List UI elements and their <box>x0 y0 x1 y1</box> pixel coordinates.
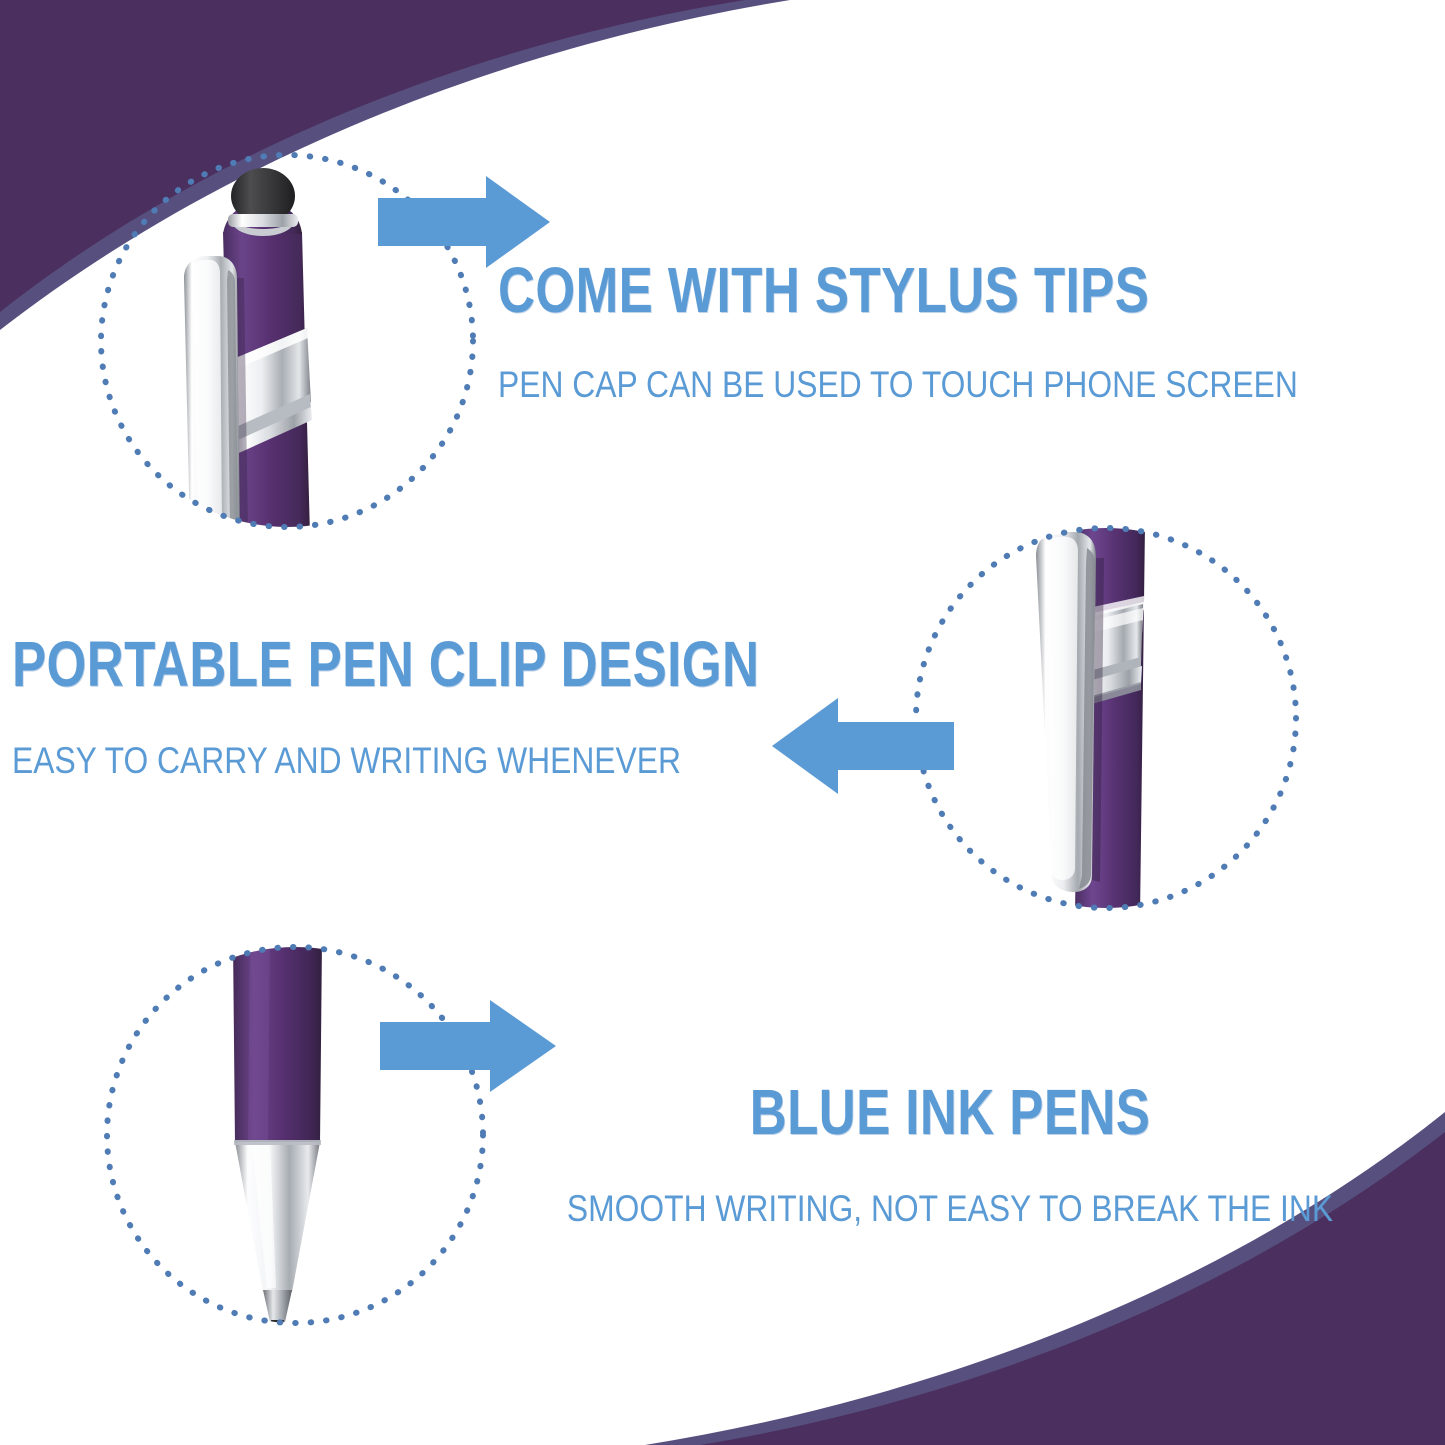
subline-stylus-tips: PEN CAP CAN BE USED TO TOUCH PHONE SCREE… <box>498 366 1272 403</box>
feature-text-pen-clip: PORTABLE PEN CLIP DESIGN EASY TO CARRY A… <box>12 632 832 779</box>
feature-text-blue-ink: BLUE INK PENS SMOOTH WRITING, NOT EASY T… <box>500 1080 1400 1227</box>
product-image-pen-clip <box>912 524 1300 912</box>
headline-blue-ink: BLUE INK PENS <box>590 1080 1310 1144</box>
arrow-right-icon <box>380 1000 556 1092</box>
headline-stylus-tips: COME WITH STYLUS TIPS <box>498 258 1218 322</box>
subline-blue-ink: SMOOTH WRITING, NOT EASY TO BREAK THE IN… <box>563 1190 1337 1227</box>
headline-pen-clip: PORTABLE PEN CLIP DESIGN <box>12 632 668 696</box>
pen-clip-illustration <box>912 524 1300 912</box>
feature-text-stylus-tips: COME WITH STYLUS TIPS PEN CAP CAN BE USE… <box>498 258 1398 403</box>
subline-pen-clip: EASY TO CARRY AND WRITING WHENEVER <box>12 742 717 779</box>
infographic-page: COME WITH STYLUS TIPS PEN CAP CAN BE USE… <box>0 0 1445 1445</box>
